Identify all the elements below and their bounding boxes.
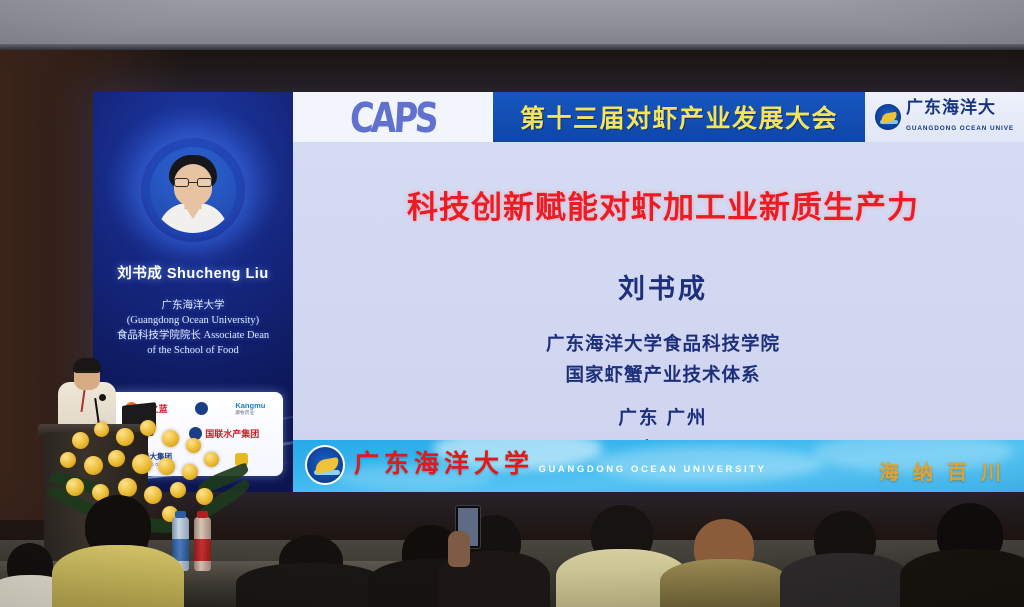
university-crest-icon: [305, 445, 345, 485]
panel-role-cn: 食品科技学院院长 Associate Dean: [99, 328, 287, 343]
university-name-block: 广东海洋大 GUANGDONG OCEAN UNIVE: [906, 99, 1024, 135]
university-name-en: GUANGDONG OCEAN UNIVE: [906, 125, 1014, 132]
audience-member: [236, 535, 386, 607]
portrait-photo: [150, 147, 236, 233]
audience-member: [780, 511, 910, 607]
conference-title: 第十三届对虾产业发展大会: [520, 99, 838, 135]
university-crest-icon: [875, 104, 901, 130]
slide-location: 广东 广州: [293, 404, 1024, 430]
header-university-logo: 广东海洋大 GUANGDONG OCEAN UNIVE: [865, 92, 1024, 142]
conference-photo: 刘书成 Shucheng Liu 广东海洋大学 (Guangdong Ocean…: [0, 0, 1024, 607]
footer-name-block: 广东海洋大学 GUANGDONG OCEAN UNIVERSITY: [354, 451, 767, 479]
slide-footer-banner: 广东海洋大学 GUANGDONG OCEAN UNIVERSITY 海纳百川: [293, 440, 1024, 492]
audience-member: [900, 503, 1024, 607]
slide-body: 科技创新赋能对虾加工业新质生产力 刘书成 广东海洋大学食品科技学院 国家虾蟹产业…: [293, 142, 1024, 440]
caps-logo: CAPS: [293, 92, 493, 142]
conference-title-banner: 第十三届对虾产业发展大会: [493, 92, 865, 142]
slide-main-title: 科技创新赋能对虾加工业新质生产力: [293, 182, 1024, 227]
audience-member: [660, 519, 788, 607]
panel-affiliation-cn: 广东海洋大学: [99, 298, 287, 313]
footer-university-en: GUANGDONG OCEAN UNIVERSITY: [538, 464, 766, 475]
slide-org-line-2: 国家虾蟹产业技术体系: [293, 359, 1024, 390]
ceiling: [0, 0, 1024, 50]
presenter-glasses-icon: [76, 371, 98, 376]
microphone-icon: [99, 394, 106, 401]
panel-affiliation: 广东海洋大学 (Guangdong Ocean University) 食品科技…: [99, 298, 287, 358]
hand: [448, 531, 470, 567]
panel-role-en: of the School of Food: [99, 343, 287, 358]
portrait-glasses-icon: [173, 178, 213, 187]
footer-motto: 海纳百川: [879, 456, 1015, 485]
slide-header-bar: CAPS 第十三届对虾产业发展大会 广东海洋大 GUANGDONG OCEAN …: [293, 92, 1024, 142]
panel-speaker-name: 刘书成 Shucheng Liu: [93, 262, 293, 283]
slide-organization: 广东海洋大学食品科技学院 国家虾蟹产业技术体系: [293, 328, 1024, 390]
speaker-portrait: [141, 138, 245, 242]
footer-university-logo: 广东海洋大学 GUANGDONG OCEAN UNIVERSITY: [305, 445, 767, 485]
footer-university-cn: 广东海洋大学: [354, 451, 534, 478]
university-name-cn: 广东海洋大: [906, 98, 996, 117]
panel-affiliation-en: (Guangdong Ocean University): [99, 313, 287, 328]
water-bottle: [194, 517, 211, 571]
caps-logo-text: CAPS: [349, 93, 437, 142]
audience-member: [52, 495, 184, 607]
slide-speaker-name: 刘书成: [293, 267, 1024, 306]
slide-org-line-1: 广东海洋大学食品科技学院: [293, 328, 1024, 359]
